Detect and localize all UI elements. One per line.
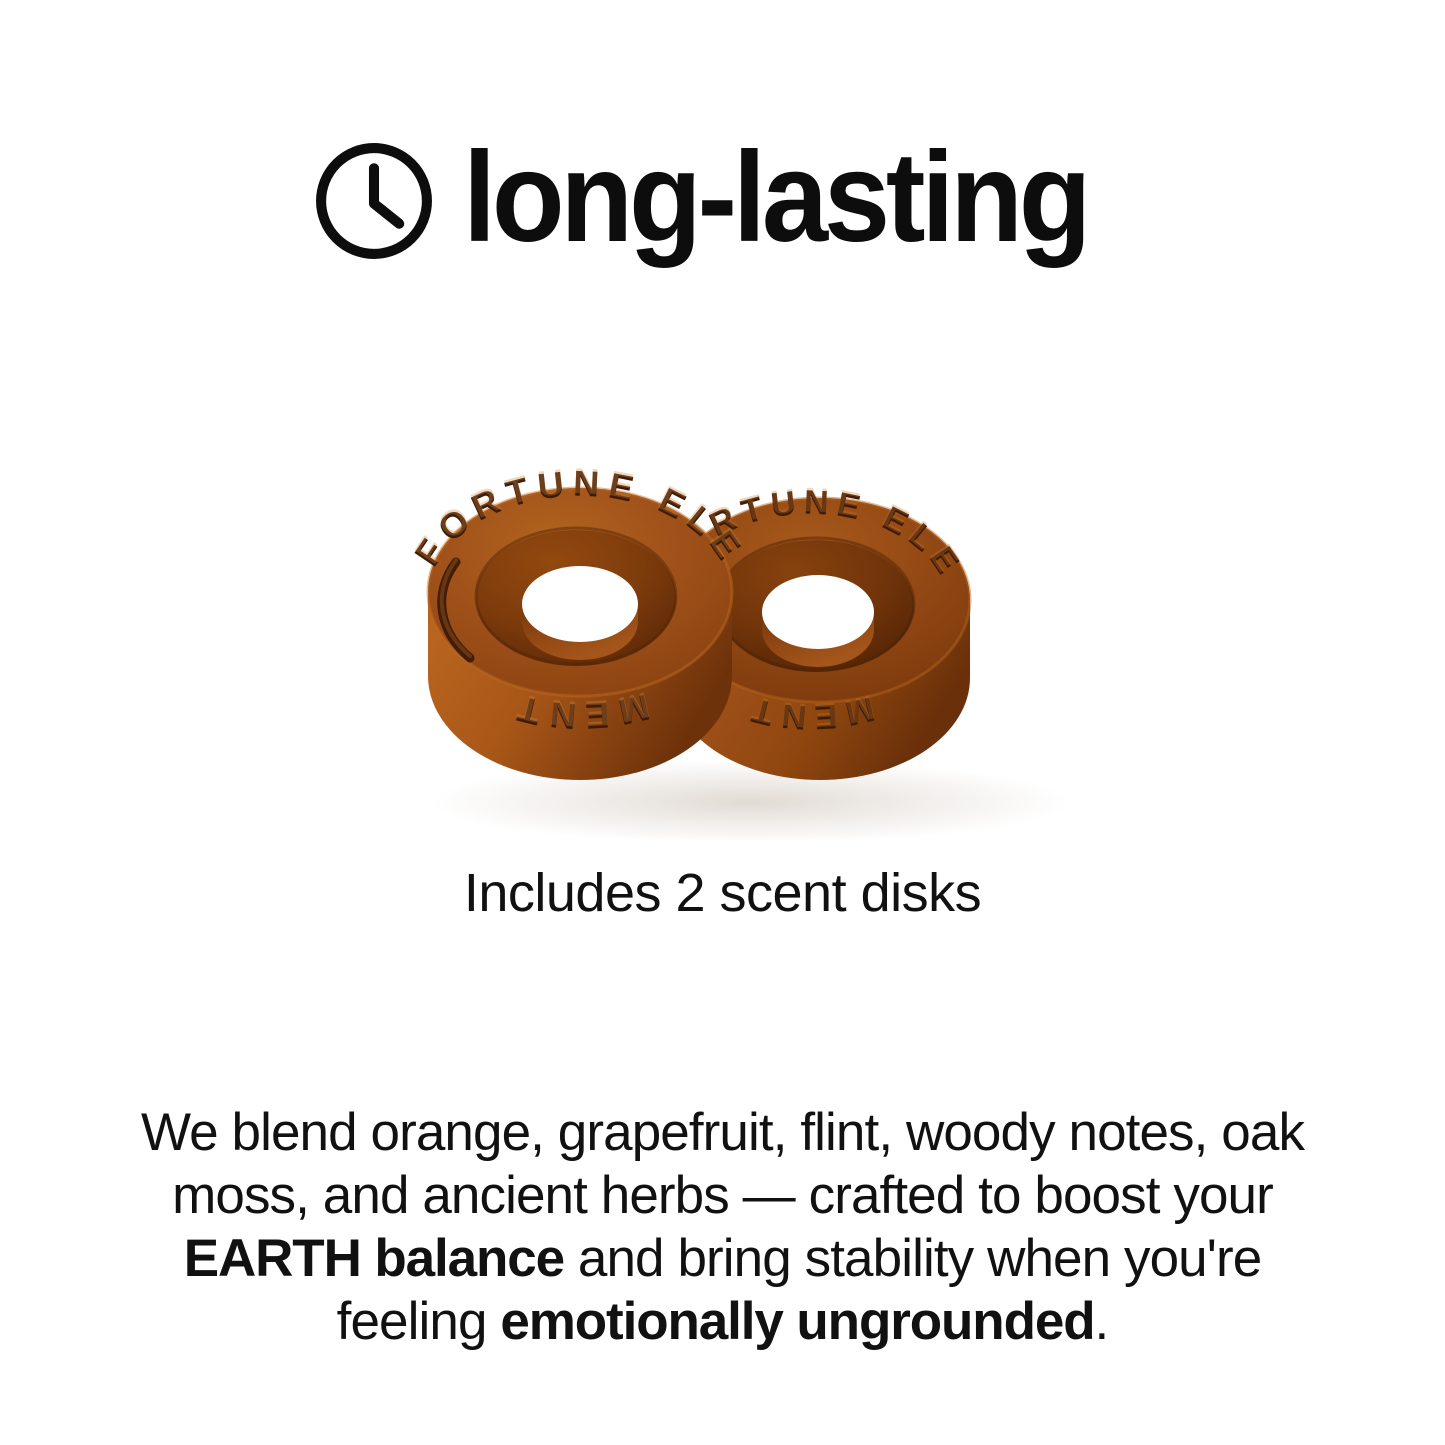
description-emphasis: emotionally ungrounded (500, 1292, 1094, 1351)
product-image: FORTUNE ELE MENT FORTUNE ELE MENT (330, 350, 1120, 840)
product-feature-card: long-lasting (0, 0, 1445, 1445)
headline: long-lasting (0, 118, 1445, 278)
page-title: long-lasting (463, 134, 1087, 262)
scent-disks-illustration: FORTUNE ELE MENT FORTUNE ELE MENT (330, 350, 1120, 840)
scent-disk-front: FORTUNE ELE MENT FORTUNE ELE MENT (406, 460, 753, 780)
description-emphasis: EARTH balance (184, 1229, 564, 1288)
clock-icon (311, 138, 437, 264)
description-text: We blend orange, grapefruit, flint, wood… (141, 1103, 1304, 1225)
product-description: We blend orange, grapefruit, flint, wood… (118, 1101, 1327, 1353)
product-caption: Includes 2 scent disks (0, 862, 1445, 924)
description-text: . (1095, 1292, 1109, 1351)
